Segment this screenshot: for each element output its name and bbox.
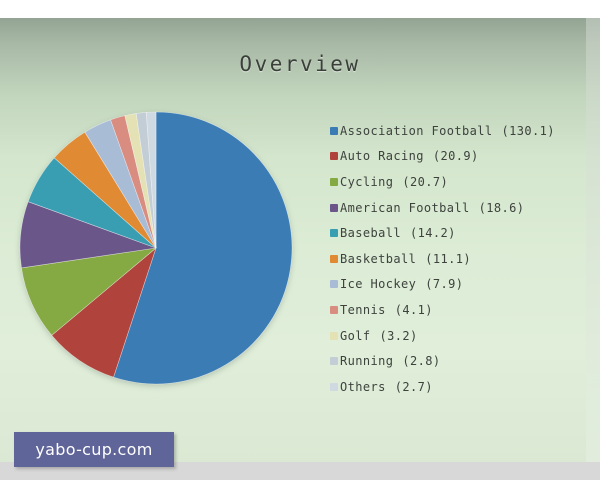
legend-item-value: (3.2) [380, 329, 418, 343]
legend-item[interactable]: Others(2.7) [330, 374, 592, 400]
legend-swatch-icon [330, 178, 338, 186]
legend-item-label: Others [340, 380, 386, 394]
chart-legend: Association Football(130.1)Auto Racing(2… [330, 118, 592, 400]
watermark-text: yabo-cup.com [35, 440, 152, 459]
legend-swatch-icon [330, 255, 338, 263]
pie-chart-svg [18, 110, 294, 386]
pie-chart [18, 110, 294, 386]
legend-item[interactable]: American Football(18.6) [330, 195, 592, 221]
legend-item-value: (130.1) [502, 124, 555, 138]
legend-item-label: American Football [340, 201, 470, 215]
legend-swatch-icon [330, 127, 338, 135]
legend-swatch-icon [330, 152, 338, 160]
legend-item[interactable]: Association Football(130.1) [330, 118, 592, 144]
legend-item-label: Auto Racing [340, 149, 424, 163]
legend-item-label: Baseball [340, 226, 401, 240]
legend-item[interactable]: Ice Hockey(7.9) [330, 272, 592, 298]
legend-swatch-icon [330, 229, 338, 237]
legend-item[interactable]: Running(2.8) [330, 348, 592, 374]
chart-screenshot: Overview Association Football(130.1)Auto… [0, 0, 600, 480]
legend-item-label: Basketball [340, 252, 416, 266]
legend-item-value: (18.6) [479, 201, 525, 215]
pie-slice-group [20, 112, 292, 384]
legend-item-label: Ice Hockey [340, 277, 416, 291]
legend-item-value: (11.1) [425, 252, 471, 266]
legend-swatch-icon [330, 204, 338, 212]
legend-item-value: (2.7) [395, 380, 433, 394]
legend-item-value: (14.2) [410, 226, 456, 240]
legend-item-label: Association Football [340, 124, 493, 138]
legend-swatch-icon [330, 383, 338, 391]
legend-item[interactable]: Baseball(14.2) [330, 220, 592, 246]
legend-swatch-icon [330, 332, 338, 340]
legend-item-value: (7.9) [425, 277, 463, 291]
legend-item-value: (4.1) [395, 303, 433, 317]
page-title: Overview [0, 52, 600, 76]
legend-swatch-icon [330, 306, 338, 314]
legend-item-label: Running [340, 354, 393, 368]
legend-item-label: Tennis [340, 303, 386, 317]
legend-item-value: (20.9) [433, 149, 479, 163]
legend-item-label: Golf [340, 329, 371, 343]
legend-item[interactable]: Golf(3.2) [330, 323, 592, 349]
watermark-badge: yabo-cup.com [14, 432, 174, 467]
legend-item[interactable]: Tennis(4.1) [330, 297, 592, 323]
legend-item[interactable]: Auto Racing(20.9) [330, 144, 592, 170]
background-top-band [0, 0, 600, 18]
legend-item[interactable]: Cycling(20.7) [330, 169, 592, 195]
legend-item[interactable]: Basketball(11.1) [330, 246, 592, 272]
legend-item-label: Cycling [340, 175, 393, 189]
legend-item-value: (2.8) [402, 354, 440, 368]
legend-swatch-icon [330, 280, 338, 288]
legend-item-value: (20.7) [402, 175, 448, 189]
legend-swatch-icon [330, 357, 338, 365]
